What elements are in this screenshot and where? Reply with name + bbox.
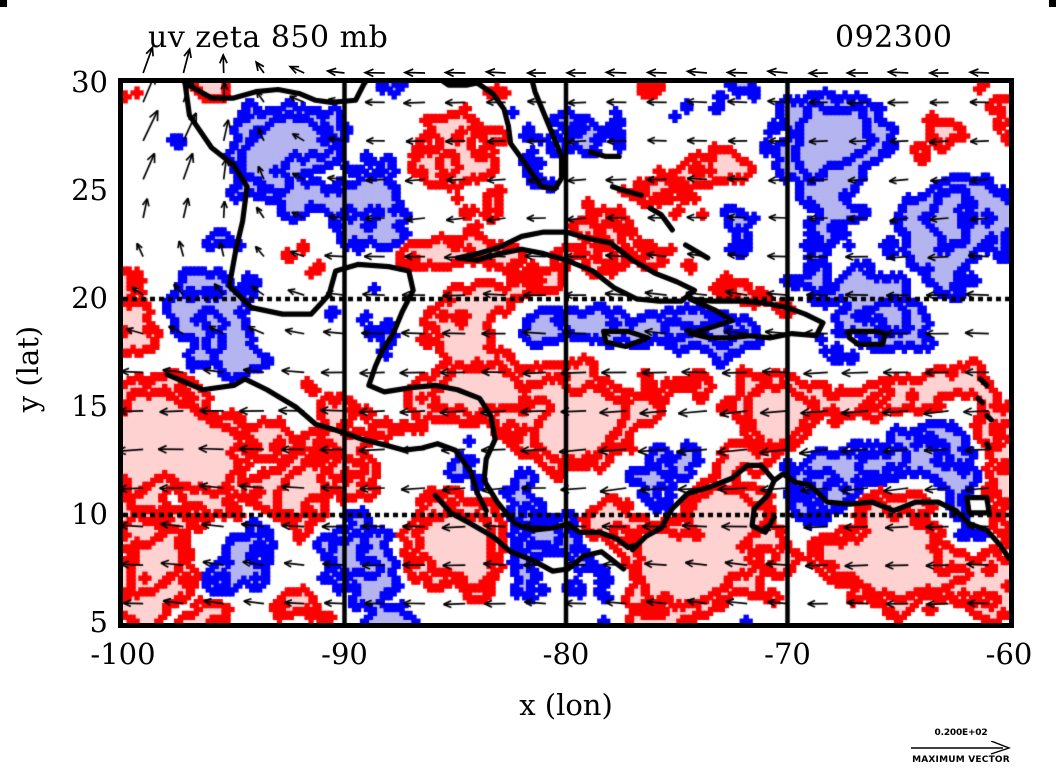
x-axis-label: x (lon): [118, 688, 1014, 722]
x-axis-tick-label: -100: [90, 640, 155, 669]
chart-root: uv zeta 850 mb 092300 51015202530 -100-9…: [0, 0, 1056, 783]
y-axis-tick-label: 5: [90, 608, 108, 637]
x-axis-ticks: -100-90-80-70-60: [118, 640, 1014, 680]
y-axis-tick-label: 10: [71, 500, 108, 529]
y-axis-tick-label: 25: [71, 176, 108, 205]
chart-timestamp: 092300: [835, 20, 953, 55]
chart-title-left: uv zeta 850 mb: [148, 20, 388, 55]
y-axis-tick-label: 15: [71, 392, 108, 421]
max-vector-arrow-icon: [886, 739, 1036, 755]
corner-mark-top-left: [0, 0, 7, 7]
x-axis-tick-label: -70: [764, 640, 811, 669]
vorticity-field-canvas: [123, 83, 1009, 623]
plot-frame: [118, 78, 1014, 628]
corner-mark-top-right: [1049, 0, 1056, 7]
y-axis-label: y (lat): [11, 279, 45, 459]
y-axis-tick-label: 20: [71, 284, 108, 313]
x-axis-tick-label: -60: [986, 640, 1033, 669]
maximum-vector-legend: 0.200E+02 MAXIMUM VECTOR: [886, 728, 1036, 780]
x-axis-tick-label: -90: [321, 640, 368, 669]
y-axis-tick-label: 30: [71, 68, 108, 97]
max-vector-caption: MAXIMUM VECTOR: [886, 755, 1036, 766]
max-vector-value: 0.200E+02: [886, 728, 1036, 739]
y-axis-label-wrap: y (lat): [0, 78, 1, 628]
x-axis-tick-label: -80: [543, 640, 590, 669]
